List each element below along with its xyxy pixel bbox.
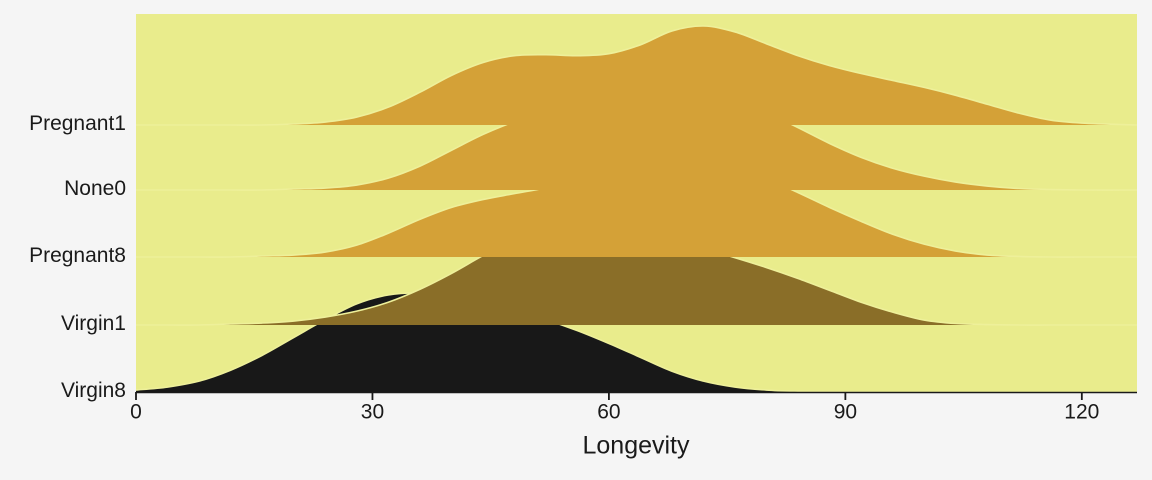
x-tick-label: 0	[130, 400, 142, 423]
chart-root: 0306090120 Longevity Pregnant1None0Pregn…	[0, 0, 1152, 480]
x-tick-label: 90	[834, 400, 857, 423]
y-tick-label-pregnant1: Pregnant1	[29, 112, 126, 135]
x-tick-label: 120	[1064, 400, 1099, 423]
x-tick-label: 60	[597, 400, 620, 423]
ridgeline-plot: 0306090120 Longevity Pregnant1None0Pregn…	[0, 0, 1152, 480]
x-tick-label: 30	[361, 400, 384, 423]
y-tick-label-virgin1: Virgin1	[61, 312, 126, 335]
y-tick-label-pregnant8: Pregnant8	[29, 244, 126, 267]
x-axis-title: Longevity	[582, 432, 690, 460]
y-tick-label-none0: None0	[64, 177, 126, 200]
y-tick-label-virgin8: Virgin8	[61, 379, 126, 402]
